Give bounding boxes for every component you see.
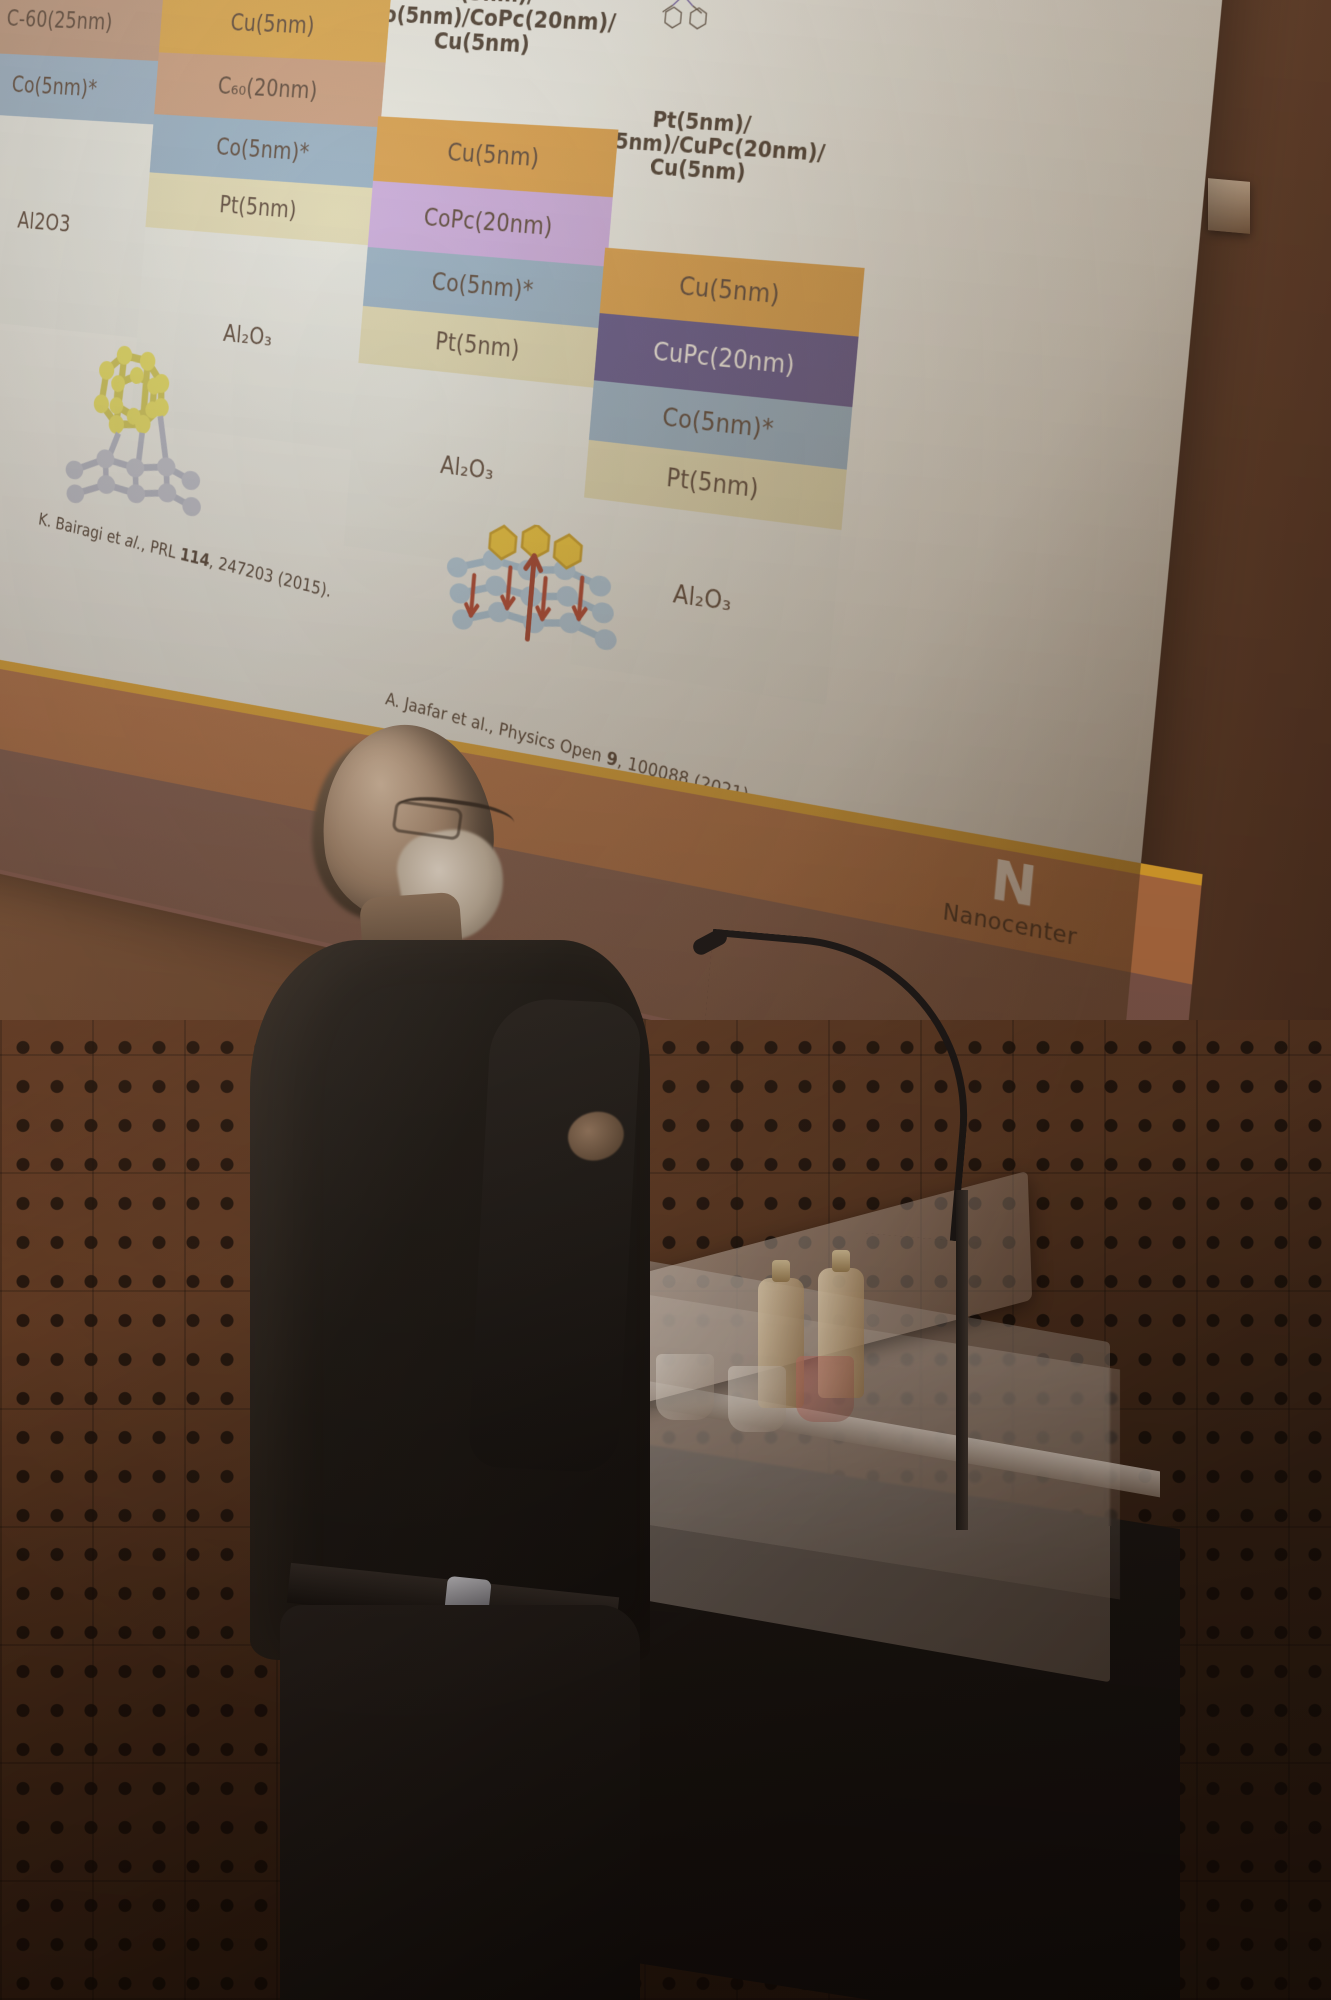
layer-co-5nm: Co(5nm)* [0, 51, 162, 124]
layer-stack-copc: Cu(5nm) CoPc(20nm) Co(5nm)* Pt(5nm) Al₂O… [344, 116, 619, 579]
phthalocyanine-on-surface-illustration [435, 513, 635, 697]
presenter [250, 700, 670, 2000]
ceiling-speaker [1208, 178, 1250, 234]
drinking-glass [796, 1356, 854, 1422]
microphone-boom-arm [688, 929, 982, 1241]
c60-on-surface-illustration [58, 328, 219, 550]
lecture-hall-scene: ...yanines (MPc, M=Cu, Co) [0, 0, 1331, 2000]
phthalocyanine-molecule-icon-cupc [629, 0, 742, 51]
layer-c60-25nm: C-60(25nm) [0, 0, 168, 61]
microphone-stand [956, 1190, 968, 1530]
presenter-arm [468, 996, 642, 1473]
layer-al2o3: Al2O3 [0, 112, 157, 338]
drinking-glass [728, 1366, 786, 1432]
citation-left-rest: , 247203 (2015). [208, 551, 333, 602]
boom-microphone [700, 940, 1000, 1270]
stack-caption-copc: Pt(5nm)/ Co(5nm)/CoPc(20nm)/ Cu(5nm) [367, 0, 606, 60]
citation-left-volume: 114 [179, 543, 211, 571]
presenter-legs [280, 1605, 640, 2000]
